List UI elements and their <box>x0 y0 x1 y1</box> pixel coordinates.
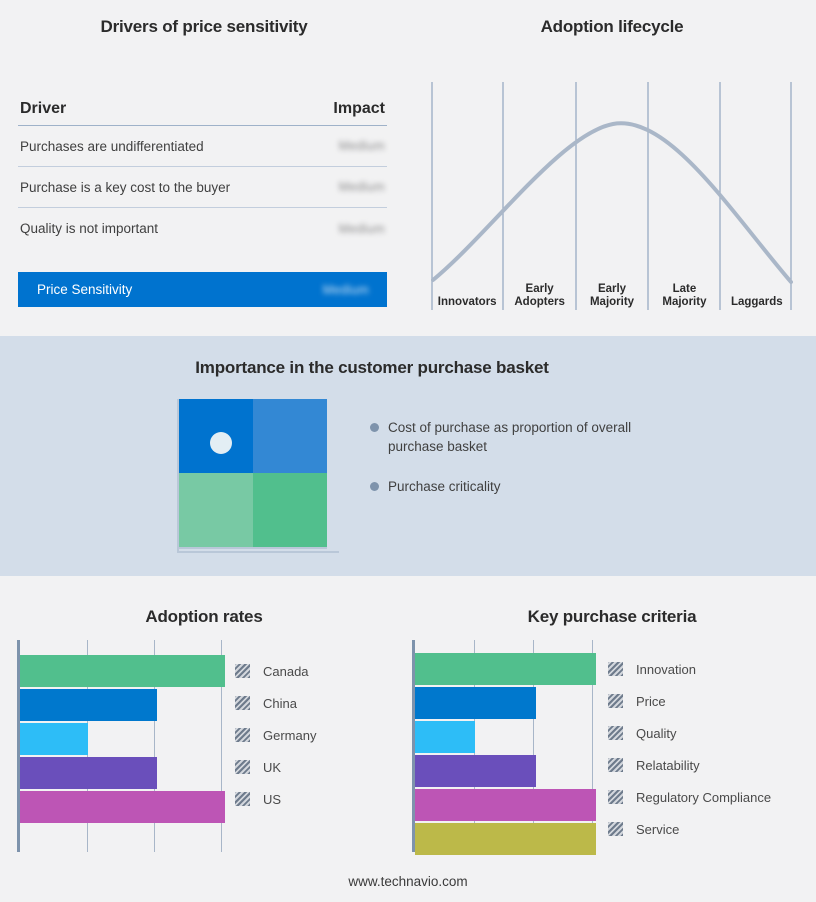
lifecycle-stage-laggards: Laggards <box>721 270 793 310</box>
adoption-rates-title: Adoption rates <box>0 607 408 627</box>
importance-legend: Cost of purchase as proportion of overal… <box>370 418 660 517</box>
bar-row[interactable] <box>415 687 536 719</box>
bar-row[interactable] <box>415 721 475 753</box>
legend-label: Relatability <box>636 758 700 773</box>
bar-price[interactable] <box>415 687 536 719</box>
drivers-table: Driver Impact Purchases are undifferenti… <box>18 92 387 249</box>
matrix-x-axis <box>177 551 339 553</box>
legend-label: China <box>263 696 297 711</box>
legend-item[interactable]: Regulatory Compliance <box>608 781 771 813</box>
legend-item[interactable]: Service <box>608 813 771 845</box>
bar-row[interactable] <box>415 789 596 821</box>
column-header-impact: Impact <box>315 100 385 118</box>
legend-swatch-icon <box>235 792 250 806</box>
adoption-rates-chart <box>17 640 222 852</box>
bar-canada[interactable] <box>20 655 225 687</box>
legend-swatch-icon <box>608 662 623 676</box>
legend-swatch-icon <box>608 694 623 708</box>
bar-quality[interactable] <box>415 721 475 753</box>
lifecycle-stage-innovators: Innovators <box>431 270 503 310</box>
legend-swatch-icon <box>608 790 623 804</box>
importance-legend-label: Purchase criticality <box>388 477 501 496</box>
bar-relatability[interactable] <box>415 755 536 787</box>
legend-label: Germany <box>263 728 316 743</box>
key-purchase-criteria-chart <box>412 640 593 852</box>
table-row[interactable]: Purchases are undifferentiated Medium <box>18 126 387 167</box>
legend-swatch-icon <box>235 760 250 774</box>
legend-item[interactable]: Canada <box>235 655 316 687</box>
price-sensitivity-impact: Medium <box>323 281 369 299</box>
importance-title: Importance in the customer purchase bask… <box>0 358 744 378</box>
bar-row[interactable] <box>415 755 536 787</box>
lifecycle-stage-early-adopters: Early Adopters <box>503 270 575 310</box>
legend-item[interactable]: US <box>235 783 316 815</box>
drivers-panel: Drivers of price sensitivity Driver Impa… <box>0 0 408 336</box>
legend-swatch-icon <box>608 758 623 772</box>
legend-swatch-icon <box>235 664 250 678</box>
impact-value: Medium <box>315 220 385 238</box>
table-header-row: Driver Impact <box>18 92 387 126</box>
footer-url: www.technavio.com <box>0 874 816 889</box>
key-purchase-criteria-title: Key purchase criteria <box>408 607 816 627</box>
bar-service[interactable] <box>415 823 596 855</box>
legend-swatch-icon <box>608 726 623 740</box>
lifecycle-title: Adoption lifecycle <box>408 17 816 37</box>
lifecycle-panel: Adoption lifecycle Innovators <box>408 0 816 336</box>
bar-row[interactable] <box>415 653 596 685</box>
legend-swatch-icon <box>235 728 250 742</box>
bar-china[interactable] <box>20 689 157 721</box>
list-item: Cost of purchase as proportion of overal… <box>370 418 660 456</box>
impact-value: Medium <box>315 137 385 155</box>
legend-item[interactable]: Relatability <box>608 749 771 781</box>
bar-row[interactable] <box>20 757 157 789</box>
legend-label: Service <box>636 822 679 837</box>
importance-legend-label: Cost of purchase as proportion of overal… <box>388 418 660 456</box>
legend-label: Canada <box>263 664 309 679</box>
bar-row[interactable] <box>415 823 596 855</box>
bar-germany[interactable] <box>20 723 88 755</box>
bar-row[interactable] <box>20 791 225 823</box>
list-item: Purchase criticality <box>370 477 660 496</box>
legend-item[interactable]: China <box>235 687 316 719</box>
bell-curve-path <box>433 123 791 282</box>
price-sensitivity-summary-row[interactable]: Price Sensitivity Medium <box>18 272 387 307</box>
matrix-quadrant-bottom-right[interactable] <box>253 473 327 547</box>
bar-us[interactable] <box>20 791 225 823</box>
bar-row[interactable] <box>20 655 225 687</box>
lifecycle-stage-early-majority: Early Majority <box>576 270 648 310</box>
legend-swatch-icon <box>608 822 623 836</box>
legend-label: Quality <box>636 726 676 741</box>
matrix-quadrant-bottom-left[interactable] <box>179 473 253 547</box>
bullet-icon <box>370 423 379 432</box>
driver-label: Quality is not important <box>20 221 158 236</box>
column-header-driver: Driver <box>20 100 66 118</box>
legend-label: Price <box>636 694 666 709</box>
legend-item[interactable]: Innovation <box>608 653 771 685</box>
driver-label: Purchases are undifferentiated <box>20 139 204 154</box>
bar-row[interactable] <box>20 723 88 755</box>
legend-label: US <box>263 792 281 807</box>
legend-swatch-icon <box>235 696 250 710</box>
matrix-quadrant-top-right[interactable] <box>253 399 327 473</box>
driver-label: Purchase is a key cost to the buyer <box>20 180 230 195</box>
key-purchase-criteria-legend: Innovation Price Quality Relatability Re… <box>608 653 771 845</box>
key-purchase-criteria-panel: Key purchase criteria Innovation Price Q… <box>408 576 816 902</box>
adoption-rates-legend: Canada China Germany UK US <box>235 655 316 815</box>
price-sensitivity-label: Price Sensitivity <box>37 282 132 297</box>
table-row[interactable]: Purchase is a key cost to the buyer Medi… <box>18 167 387 208</box>
legend-item[interactable]: Price <box>608 685 771 717</box>
legend-item[interactable]: Germany <box>235 719 316 751</box>
table-row[interactable]: Quality is not important Medium <box>18 208 387 249</box>
drivers-title: Drivers of price sensitivity <box>0 17 408 37</box>
importance-matrix <box>177 399 327 549</box>
lifecycle-stage-labels: Innovators Early Adopters Early Majority… <box>431 270 793 310</box>
impact-value: Medium <box>315 178 385 196</box>
bar-uk[interactable] <box>20 757 157 789</box>
adoption-rates-panel: Adoption rates Canada China Germany UK U… <box>0 576 408 902</box>
importance-matrix-wrap <box>177 399 327 549</box>
lifecycle-stage-late-majority: Late Majority <box>648 270 720 310</box>
legend-label: Regulatory Compliance <box>636 790 771 805</box>
criteria-plot-area <box>412 640 593 852</box>
adoption-plot-area <box>17 640 222 852</box>
legend-item[interactable]: UK <box>235 751 316 783</box>
bullet-icon <box>370 482 379 491</box>
bar-row[interactable] <box>20 689 157 721</box>
legend-item[interactable]: Quality <box>608 717 771 749</box>
matrix-position-marker <box>210 432 232 454</box>
bar-innovation[interactable] <box>415 653 596 685</box>
infographic-page: Drivers of price sensitivity Driver Impa… <box>0 0 816 902</box>
legend-label: UK <box>263 760 281 775</box>
bar-regulatory-compliance[interactable] <box>415 789 596 821</box>
legend-label: Innovation <box>636 662 696 677</box>
